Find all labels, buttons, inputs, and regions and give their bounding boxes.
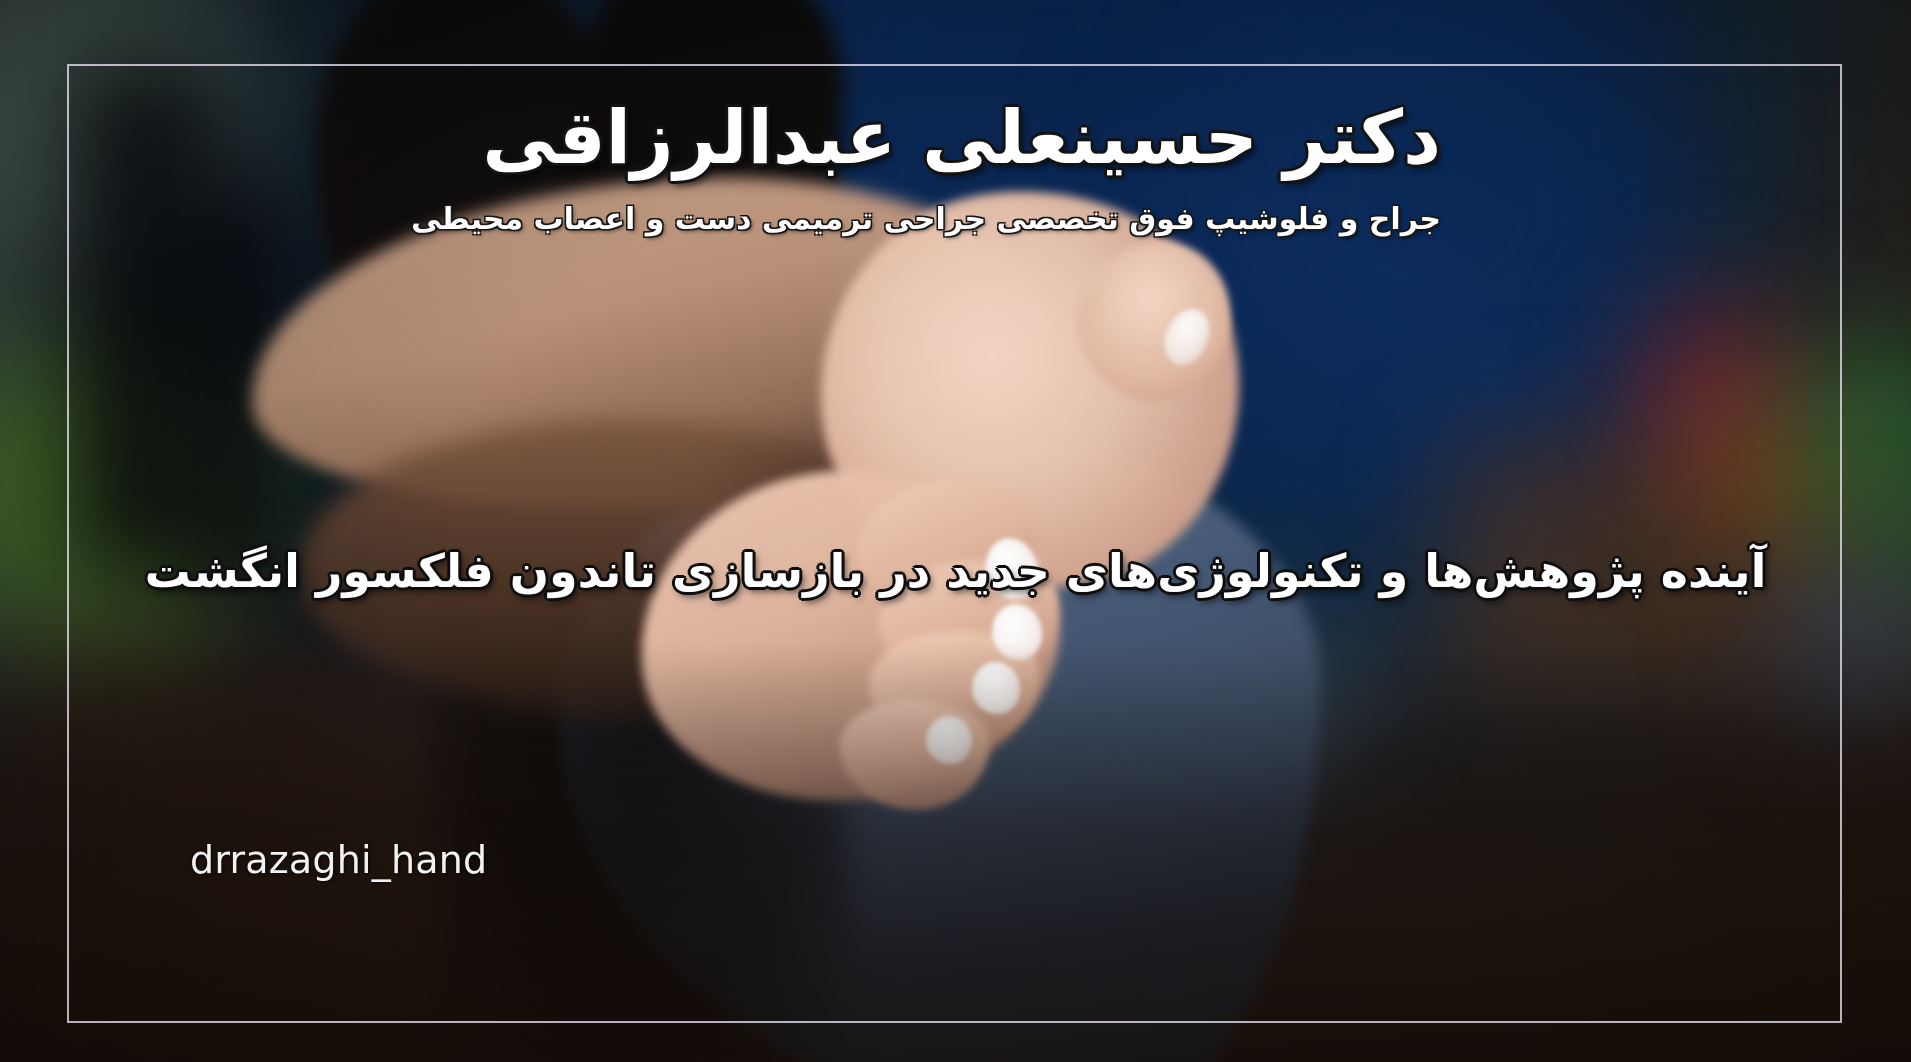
social-handle: drrazaghi_hand <box>190 838 487 882</box>
doctor-name: دکتر حسینعلی عبدالرزاقی <box>482 96 1441 181</box>
doctor-specialty-subtitle: جراح و فلوشیپ فوق تخصصی جراحی ترمیمی دست… <box>411 200 1441 239</box>
slide-headline: آینده پژوهش‌ها و تکنولوژی‌های جدید در با… <box>0 540 1911 602</box>
slide-canvas: دکتر حسینعلی عبدالرزاقی جراح و فلوشیپ فو… <box>0 0 1911 1062</box>
